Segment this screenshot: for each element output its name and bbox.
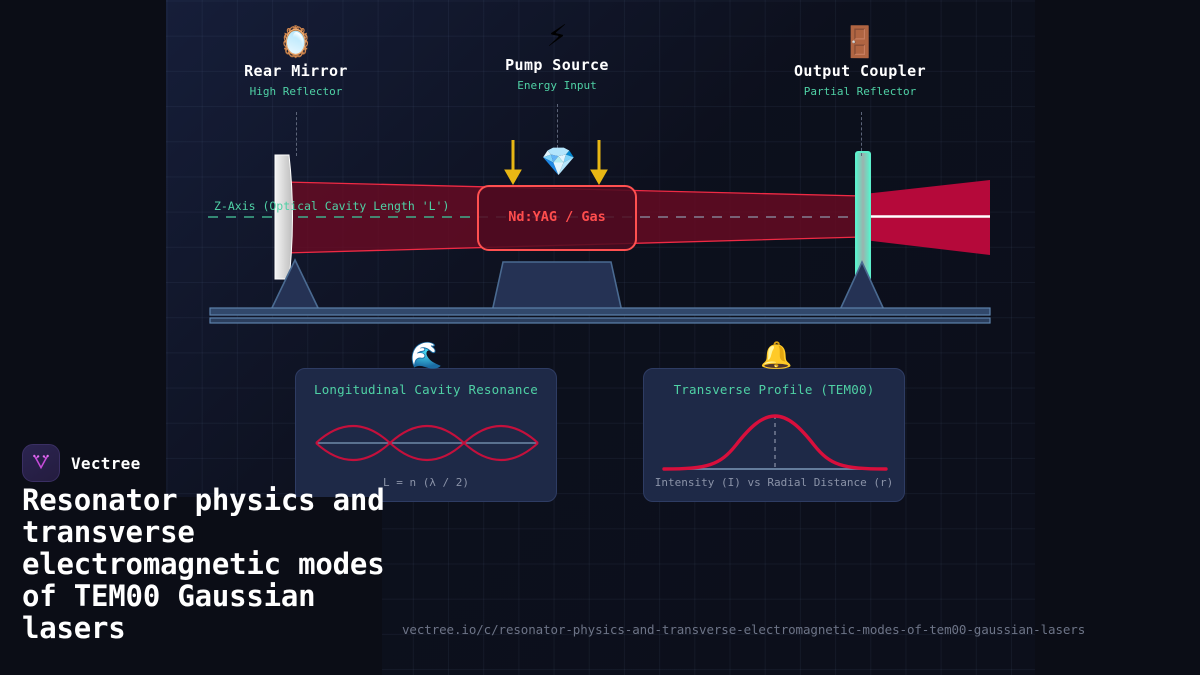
panel-caption: Intensity (I) vs Radial Distance (r) (644, 476, 904, 489)
optics-mounts (270, 260, 885, 312)
component-subtitle: Partial Reflector (760, 85, 960, 98)
gem-icon: 💎 (541, 148, 576, 176)
panel-longitudinal-resonance[interactable]: Longitudinal Cavity Resonance L = n (λ /… (295, 368, 557, 502)
bell-icon: 🔔 (760, 343, 792, 369)
leader-line-rear-mirror (296, 112, 297, 156)
page-title: Resonator physics and transverse electro… (22, 484, 422, 644)
gain-medium-label: Nd:YAG / Gas (478, 209, 636, 225)
output-beam (864, 180, 990, 255)
z-axis-label: Z-Axis (Optical Cavity Length 'L') (214, 199, 449, 213)
mirror-icon: 🪞 (196, 26, 396, 60)
panel-transverse-profile[interactable]: Transverse Profile (TEM00) Intensity (I)… (643, 368, 905, 502)
component-pump-source[interactable]: ⚡ Pump Source Energy Input (457, 20, 657, 92)
component-title: Rear Mirror (196, 62, 396, 80)
leader-line-output-coupler (861, 112, 862, 156)
optical-rail (210, 308, 990, 323)
wave-icon: 🌊 (410, 343, 442, 369)
leader-line-pump-source (557, 104, 558, 148)
component-subtitle: High Reflector (196, 85, 396, 98)
component-title: Pump Source (457, 56, 657, 74)
vectree-v-logo-icon (22, 444, 60, 482)
panel-title: Transverse Profile (TEM00) (644, 382, 904, 397)
infographic-canvas: 🪞 Rear Mirror High Reflector ⚡ Pump Sour… (0, 0, 1200, 675)
gaussian-profile-plot (658, 407, 892, 475)
panel-title: Longitudinal Cavity Resonance (296, 382, 556, 397)
brand-lockup[interactable]: Vectree (22, 444, 141, 482)
component-output-coupler[interactable]: 🚪 Output Coupler Partial Reflector (760, 26, 960, 98)
component-subtitle: Energy Input (457, 79, 657, 92)
component-rear-mirror[interactable]: 🪞 Rear Mirror High Reflector (196, 26, 396, 98)
component-title: Output Coupler (760, 62, 960, 80)
lightning-icon: ⚡ (457, 20, 657, 54)
rear-mirror[interactable] (275, 155, 293, 279)
output-coupler-mirror[interactable] (856, 152, 870, 280)
standing-wave-plot (310, 413, 544, 473)
logo-glyph (30, 452, 52, 474)
brand-name: Vectree (71, 454, 141, 473)
door-icon: 🚪 (760, 26, 960, 60)
page-url: vectree.io/c/resonator-physics-and-trans… (402, 622, 1085, 637)
